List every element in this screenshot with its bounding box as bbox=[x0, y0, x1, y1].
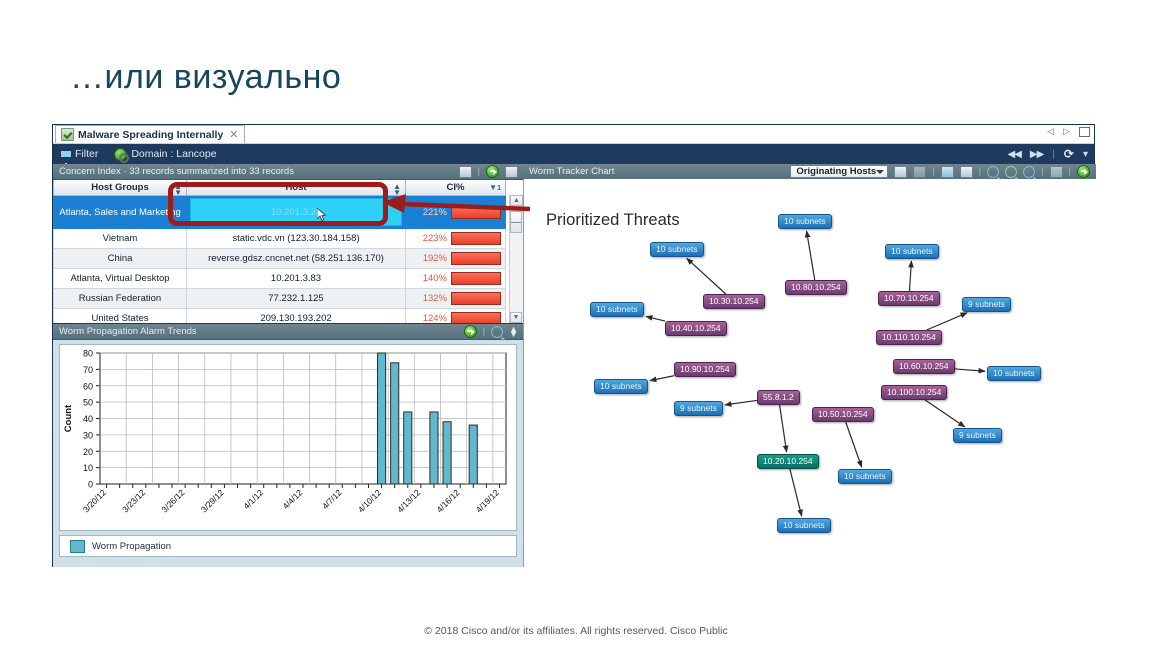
chevron-down-icon bbox=[876, 170, 884, 174]
right-column: Worm Tracker Chart Originating Hosts | | bbox=[523, 164, 1096, 567]
prev-icon[interactable]: ◁ bbox=[1047, 126, 1054, 137]
svg-text:3/20/12: 3/20/12 bbox=[81, 487, 108, 514]
graph-node-host[interactable]: 55.8.1.2 bbox=[757, 390, 800, 405]
svg-text:3/23/12: 3/23/12 bbox=[120, 487, 147, 514]
svg-text:0: 0 bbox=[88, 480, 93, 490]
chevron-down-icon[interactable]: ▾ bbox=[1083, 149, 1088, 160]
ci-bar bbox=[451, 312, 501, 323]
graph-node-host[interactable]: 10.100.10.254 bbox=[881, 385, 947, 400]
graph-edge bbox=[925, 400, 965, 427]
graph-node-host[interactable]: 10.70.10.254 bbox=[878, 291, 940, 306]
svg-text:50: 50 bbox=[83, 398, 93, 408]
svg-text:4/10/12: 4/10/12 bbox=[356, 487, 383, 514]
table-row[interactable]: Russian Federation 77.232.1.125 132% bbox=[54, 289, 506, 309]
table-row[interactable]: Atlanta, Virtual Desktop 10.201.3.83 140… bbox=[54, 269, 506, 289]
filter-table-icon[interactable] bbox=[459, 166, 472, 178]
graph-edge bbox=[955, 369, 985, 371]
graph-node-host[interactable]: 10.90.10.254 bbox=[674, 362, 736, 377]
cell-ci-percent: 132% bbox=[406, 289, 506, 309]
app-toolbar: Filter Domain : Lancope ◀◀ ▶▶ | ⟳ ▾ bbox=[53, 144, 1094, 165]
graph-node-label: 10 subnets bbox=[596, 304, 638, 314]
go-icon[interactable] bbox=[1077, 165, 1090, 178]
graph-node-label: 10.70.10.254 bbox=[884, 293, 934, 303]
window-titlebar: Malware Spreading Internally ✕ ◁ ▷ bbox=[53, 125, 1094, 144]
next-icon[interactable]: ▷ bbox=[1063, 126, 1070, 137]
zoom-in-icon[interactable] bbox=[987, 166, 999, 178]
column-label: Host Groups bbox=[91, 182, 149, 193]
ci-value: 192% bbox=[423, 253, 447, 264]
annotation-highlight-box bbox=[168, 182, 388, 226]
graph-node-subnet[interactable]: 10 subnets bbox=[987, 366, 1041, 381]
concern-index-panel-header: Concern Index · 33 records summarized in… bbox=[53, 164, 523, 180]
table-row[interactable]: Vietnam static.vdc.vn (123.30.184.158) 2… bbox=[54, 229, 506, 249]
resize-icon[interactable]: ▲▼ bbox=[509, 327, 518, 337]
svg-text:4/13/12: 4/13/12 bbox=[395, 487, 422, 514]
graph-node-label: 10.60.10.254 bbox=[899, 361, 949, 371]
worm-propagation-title: Worm Propagation Alarm Trends bbox=[59, 326, 197, 337]
ci-bar bbox=[451, 252, 501, 265]
graph-node-subnet[interactable]: 10 subnets bbox=[590, 302, 644, 317]
graph-node-host[interactable]: 10.80.10.254 bbox=[785, 280, 847, 295]
tab-label: Malware Spreading Internally bbox=[78, 129, 223, 141]
graph-edge bbox=[687, 258, 726, 294]
svg-text:4/1/12: 4/1/12 bbox=[241, 487, 265, 511]
graph-node-subnet[interactable]: 9 subnets bbox=[953, 428, 1002, 443]
annotation-arrow bbox=[380, 192, 535, 220]
refresh-icon[interactable]: ⟳ bbox=[1064, 147, 1074, 161]
prioritized-threats-annotation: Prioritized Threats bbox=[546, 211, 680, 230]
table-row[interactable]: United States 209.130.193.202 124% bbox=[54, 309, 506, 324]
graph-edge bbox=[846, 422, 862, 467]
svg-text:70: 70 bbox=[83, 365, 93, 375]
graph-edge bbox=[790, 469, 802, 516]
cell-ci-percent: 223% bbox=[406, 229, 506, 249]
graph-node-label: 10.90.10.254 bbox=[680, 364, 730, 374]
zoom-fit-icon[interactable] bbox=[1005, 166, 1017, 178]
graph-node-label: 10.100.10.254 bbox=[887, 387, 941, 397]
screen-icon[interactable] bbox=[960, 166, 973, 178]
graph-edge bbox=[650, 376, 674, 381]
graph-node-label: 10.80.10.254 bbox=[791, 282, 841, 292]
cell-host: static.vdc.vn (123.30.184.158) bbox=[187, 229, 406, 249]
bar-chart-svg: 010203040506070803/20/123/23/123/26/123/… bbox=[60, 345, 516, 530]
graph-edge bbox=[927, 313, 967, 330]
cell-host-group: China bbox=[54, 249, 187, 269]
graph-node-label: 10 subnets bbox=[784, 216, 826, 226]
svg-text:60: 60 bbox=[83, 381, 93, 391]
globe-search-icon bbox=[114, 148, 127, 161]
slide-footer: © 2018 Cisco and/or its affiliates. All … bbox=[0, 625, 1152, 637]
svg-text:20: 20 bbox=[83, 447, 93, 457]
layout-icon[interactable] bbox=[941, 166, 954, 178]
restore-icon[interactable] bbox=[1079, 127, 1090, 137]
graph-node-label: 9 subnets bbox=[680, 403, 717, 413]
column-header-host-groups[interactable]: Host Groups ▲▼ bbox=[54, 180, 187, 196]
go-icon[interactable] bbox=[486, 165, 499, 178]
graph-node-subnet[interactable]: 9 subnets bbox=[674, 401, 723, 416]
legend-label: Worm Propagation bbox=[92, 541, 171, 552]
cell-ci-percent: 140% bbox=[406, 269, 506, 289]
graph-node-host[interactable]: 10.50.10.254 bbox=[812, 407, 874, 422]
graph-node-subnet[interactable]: 10 subnets bbox=[650, 242, 704, 257]
search-icon[interactable] bbox=[491, 326, 503, 338]
domain-button[interactable]: Domain : Lancope bbox=[114, 148, 216, 161]
graph-node-subnet[interactable]: 10 subnets bbox=[885, 244, 939, 259]
graph-node-label: 9 subnets bbox=[968, 299, 1005, 309]
page-title: …или визуально bbox=[70, 58, 341, 97]
cell-ci-percent: 124% bbox=[406, 309, 506, 324]
worm-tracker-canvas[interactable]: Prioritized Threats 10 subnets10 subnets… bbox=[523, 179, 1097, 567]
cell-host-group: Atlanta, Sales and Marketing bbox=[54, 196, 187, 229]
graph-node-subnet[interactable]: 10 subnets bbox=[594, 379, 648, 394]
graph-node-label: 9 subnets bbox=[959, 430, 996, 440]
graph-node-label: 10.30.10.254 bbox=[709, 296, 759, 306]
worm-tracker-title: Worm Tracker Chart bbox=[529, 166, 614, 177]
camera-icon[interactable] bbox=[1050, 166, 1063, 178]
document-icon bbox=[61, 128, 74, 141]
zoom-out-icon[interactable] bbox=[1023, 166, 1035, 178]
svg-text:80: 80 bbox=[83, 349, 93, 359]
worm-tracker-tools: Originating Hosts | | | | bbox=[790, 165, 1090, 178]
graph-node-host[interactable]: 10.20.10.254 bbox=[757, 454, 819, 469]
graph-node-host[interactable]: 10.30.10.254 bbox=[703, 294, 765, 309]
graph-node-host[interactable]: 10.110.10.254 bbox=[876, 330, 942, 345]
legend-swatch bbox=[70, 540, 85, 553]
chart-legend: Worm Propagation bbox=[59, 535, 517, 557]
svg-text:Count: Count bbox=[63, 404, 74, 432]
worm-propagation-tools: | ▲▼ bbox=[464, 325, 518, 338]
ci-value: 132% bbox=[423, 293, 447, 304]
graph-node-subnet[interactable]: 10 subnets bbox=[778, 214, 832, 229]
go-icon[interactable] bbox=[464, 325, 477, 338]
graph-node-subnet[interactable]: 9 subnets bbox=[962, 297, 1011, 312]
svg-text:10: 10 bbox=[83, 463, 93, 473]
concern-index-title: Concern Index · 33 records summarized in… bbox=[59, 166, 294, 177]
svg-text:4/16/12: 4/16/12 bbox=[434, 487, 461, 514]
tab-malware-spreading-internally[interactable]: Malware Spreading Internally ✕ bbox=[55, 125, 245, 143]
graph-node-subnet[interactable]: 10 subnets bbox=[777, 518, 831, 533]
cell-ci-percent: 192% bbox=[406, 249, 506, 269]
graph-node-label: 10 subnets bbox=[844, 471, 886, 481]
svg-text:30: 30 bbox=[83, 430, 93, 440]
graph-node-label: 10 subnets bbox=[600, 381, 642, 391]
worm-propagation-panel: Worm Propagation Alarm Trends | ▲▼ 01020… bbox=[53, 324, 523, 567]
filter-button[interactable]: Filter bbox=[61, 148, 98, 160]
ci-bar bbox=[451, 272, 501, 285]
svg-text:4/19/12: 4/19/12 bbox=[474, 487, 501, 514]
toolbar-right-controls: ◀◀ ▶▶ | ⟳ ▾ bbox=[1008, 147, 1088, 161]
worm-propagation-panel-header: Worm Propagation Alarm Trends | ▲▼ bbox=[53, 324, 523, 340]
graph-node-host[interactable]: 10.60.10.254 bbox=[893, 359, 955, 374]
cell-host: 77.232.1.125 bbox=[187, 289, 406, 309]
filter-label: Filter bbox=[75, 148, 98, 160]
graph-edge bbox=[909, 261, 911, 291]
cell-host: 209.130.193.202 bbox=[187, 309, 406, 324]
concern-index-tools: | bbox=[459, 165, 518, 178]
graph-edge bbox=[780, 405, 787, 452]
cell-host-group: United States bbox=[54, 309, 187, 324]
graph-node-label: 10.50.10.254 bbox=[818, 409, 868, 419]
svg-text:3/29/12: 3/29/12 bbox=[199, 487, 226, 514]
svg-text:40: 40 bbox=[83, 414, 93, 424]
cell-host-group: Atlanta, Virtual Desktop bbox=[54, 269, 187, 289]
graph-node-label: 10 subnets bbox=[993, 368, 1035, 378]
graph-node-label: 55.8.1.2 bbox=[763, 392, 794, 402]
graph-edge bbox=[725, 400, 757, 404]
bar-chart: 010203040506070803/20/123/23/123/26/123/… bbox=[59, 344, 517, 531]
upload-icon[interactable] bbox=[913, 166, 926, 178]
graph-node-label: 10.110.10.254 bbox=[882, 332, 936, 342]
graph-node-label: 10 subnets bbox=[656, 244, 698, 254]
rewind-icon[interactable]: ◀◀ bbox=[1008, 149, 1021, 160]
cell-host: reverse.gdsz.cncnet.net (58.251.136.170) bbox=[187, 249, 406, 269]
graph-node-label: 10 subnets bbox=[783, 520, 825, 530]
export-icon[interactable] bbox=[505, 166, 518, 178]
cell-host-group: Vietnam bbox=[54, 229, 187, 249]
graph-node-subnet[interactable]: 10 subnets bbox=[838, 469, 892, 484]
graph-node-host[interactable]: 10.40.10.254 bbox=[665, 321, 727, 336]
cell-host: 10.201.3.83 bbox=[187, 269, 406, 289]
cell-host-group: Russian Federation bbox=[54, 289, 187, 309]
ci-value: 140% bbox=[423, 273, 447, 284]
view-selector-dropdown[interactable]: Originating Hosts bbox=[790, 165, 888, 178]
close-icon[interactable]: ✕ bbox=[229, 128, 238, 141]
table-row[interactable]: China reverse.gdsz.cncnet.net (58.251.13… bbox=[54, 249, 506, 269]
window-controls: ◁ ▷ bbox=[1047, 126, 1090, 137]
domain-label: Domain : Lancope bbox=[131, 148, 216, 160]
ci-value: 124% bbox=[423, 313, 447, 323]
graph-node-label: 10.40.10.254 bbox=[671, 323, 721, 333]
svg-text:3/26/12: 3/26/12 bbox=[159, 487, 186, 514]
forward-icon[interactable]: ▶▶ bbox=[1030, 149, 1043, 160]
save-icon[interactable] bbox=[894, 166, 907, 178]
graph-node-label: 10 subnets bbox=[891, 246, 933, 256]
funnel-icon bbox=[61, 151, 71, 157]
graph-node-label: 10.20.10.254 bbox=[763, 456, 813, 466]
graph-edge bbox=[646, 316, 665, 321]
worm-tracker-panel-header: Worm Tracker Chart Originating Hosts | | bbox=[523, 164, 1096, 180]
graph-edge bbox=[807, 231, 815, 280]
scroll-down-button[interactable]: ▼ bbox=[510, 312, 522, 323]
svg-text:4/7/12: 4/7/12 bbox=[320, 487, 344, 511]
ci-bar bbox=[451, 232, 501, 245]
ci-value: 223% bbox=[423, 233, 447, 244]
view-selector-value: Originating Hosts bbox=[796, 166, 876, 177]
ci-bar bbox=[451, 292, 501, 305]
svg-text:4/4/12: 4/4/12 bbox=[281, 487, 305, 511]
